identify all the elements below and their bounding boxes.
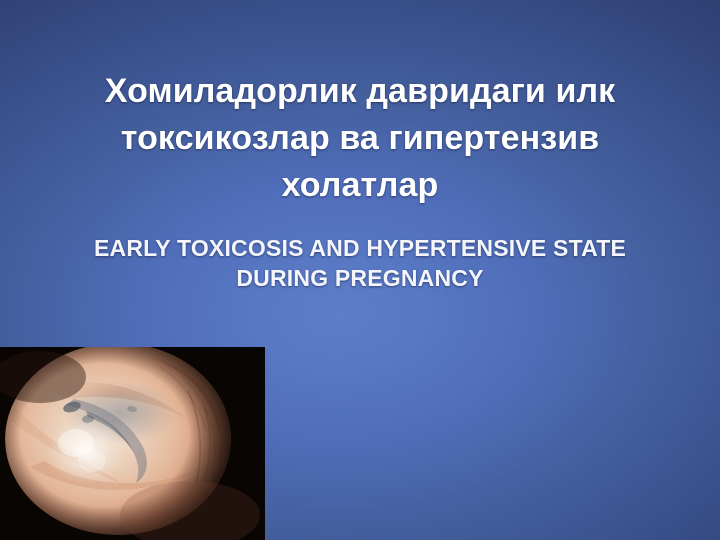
title-line-3: холатлар: [30, 162, 690, 209]
slide-title: Хомиладорлик давридаги илк токсикозлар в…: [30, 68, 690, 209]
endoscopic-photo: [0, 347, 265, 540]
presentation-slide: Хомиладорлик давридаги илк токсикозлар в…: [0, 0, 720, 540]
subtitle-line-1: EARLY TOXICOSIS AND HYPERTENSIVE STATE: [30, 233, 690, 263]
subtitle-line-2: DURING PREGNANCY: [30, 263, 690, 293]
endoscopic-photo-graphic: [0, 347, 265, 540]
title-line-1: Хомиладорлик давридаги илк: [30, 68, 690, 115]
title-line-2: токсикозлар ва гипертензив: [30, 115, 690, 162]
slide-subtitle: EARLY TOXICOSIS AND HYPERTENSIVE STATE D…: [30, 233, 690, 293]
